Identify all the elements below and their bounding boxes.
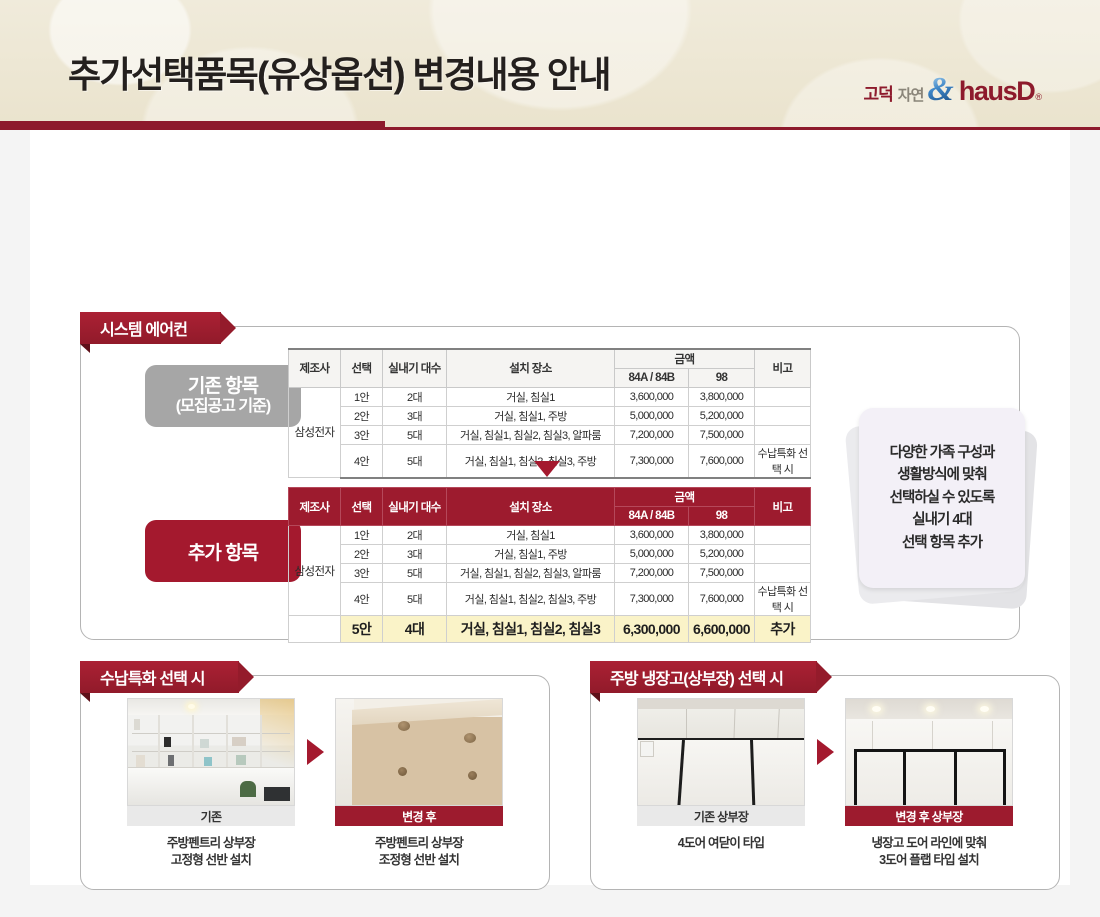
transition-down-arrow-icon: [534, 461, 560, 477]
table-row: 2안3대거실, 침실1, 주방5,000,0005,200,000: [289, 406, 811, 425]
section-ribbon-aircon: 시스템 에어컨: [80, 312, 221, 344]
fridge-panel: 기존 상부장 4도어 여닫이 타입: [590, 675, 1060, 890]
cell-units: 4대: [383, 616, 447, 643]
table-row: 삼성전자1안2대거실, 침실13,600,0003,800,000: [289, 387, 811, 406]
table-row: 4안5대거실, 침실1, 침실2, 침실3, 주방7,300,0007,600,…: [289, 583, 811, 616]
fridge-change-arrow-icon: [805, 698, 845, 806]
cell-remark: [755, 425, 811, 444]
storage-before-desc-line1: 주방펜트리 상부장: [127, 835, 295, 852]
th-units: 실내기 대수: [383, 349, 447, 387]
info-note: 다양한 가족 구성과 생활방식에 맞춰 선택하실 수 있도록 실내기 4대 선택…: [852, 408, 1032, 608]
section-ribbon-fridge: 주방 냉장고(상부장) 선택 시: [590, 661, 817, 693]
cell-choice: 4안: [341, 583, 383, 616]
cell-units: 5대: [383, 583, 447, 616]
cell-place: 거실, 침실1, 침실2, 침실3, 알파룸: [447, 425, 615, 444]
storage-panel: 기존 주방펜트리 상부장 고정형 선반 설치: [80, 675, 550, 890]
existing-badge-line2: (모집공고 기준): [176, 398, 270, 416]
logo-jayeon-text: 자연: [898, 84, 924, 105]
page-body: 시스템 에어컨 기존 항목 (모집공고 기준) 추가 항목 제조사 선택 실내기…: [0, 130, 1100, 917]
added-items-badge: 추가 항목: [145, 520, 301, 582]
fridge-comparison: 기존 상부장 4도어 여닫이 타입: [591, 676, 1059, 889]
storage-comparison: 기존 주방펜트리 상부장 고정형 선반 설치: [81, 676, 549, 889]
cell-choice: 2안: [341, 406, 383, 425]
cell-price-84: 3,600,000: [615, 526, 689, 545]
table-row: 5안4대거실, 침실1, 침실2, 침실36,300,0006,600,000추…: [289, 616, 811, 643]
storage-before-column: 기존 주방펜트리 상부장 고정형 선반 설치: [127, 698, 295, 869]
cell-price-84: 5,000,000: [615, 406, 689, 425]
th-choice: 선택: [341, 349, 383, 387]
page-header: 추가선택품목(유상옵션) 변경내용 안내 고덕 자연 & hausD ®: [0, 0, 1100, 130]
th-price-98: 98: [689, 368, 755, 387]
fridge-before-caption-bar: 기존 상부장: [637, 806, 805, 826]
cell-place: 거실, 침실1, 침실2, 침실3, 주방: [447, 444, 615, 478]
existing-items-badge: 기존 항목 (모집공고 기준): [145, 365, 301, 427]
cell-maker-blank: [289, 616, 341, 643]
added-options-table: 제조사 선택 실내기 대수 설치 장소 금액 비고 84A / 84B 98 삼…: [288, 487, 811, 643]
th-place: 설치 장소: [447, 349, 615, 387]
cell-units: 2대: [383, 526, 447, 545]
cell-place: 거실, 침실1: [447, 526, 615, 545]
storage-before-description: 주방펜트리 상부장 고정형 선반 설치: [127, 835, 295, 869]
table-row: 2안3대거실, 침실1, 주방5,000,0005,200,000: [289, 545, 811, 564]
storage-after-description: 주방펜트리 상부장 조정형 선반 설치: [335, 835, 503, 869]
th-amount: 금액: [615, 488, 755, 507]
logo-brand-text: hausD: [959, 76, 1035, 107]
cell-price-98: 3,800,000: [689, 387, 755, 406]
cell-choice: 5안: [341, 616, 383, 643]
cell-place: 거실, 침실1, 주방: [447, 406, 615, 425]
cell-remark: [755, 387, 811, 406]
upper-cabinet-after-photo: [845, 698, 1013, 806]
cell-place: 거실, 침실1, 주방: [447, 545, 615, 564]
storage-before-desc-line2: 고정형 선반 설치: [127, 852, 295, 869]
storage-after-column: 변경 후 주방펜트리 상부장 조정형 선반 설치: [335, 698, 503, 869]
cell-remark: [755, 564, 811, 583]
cell-remark: 수납특화 선택 시: [755, 444, 811, 478]
logo-ampersand-icon: &: [927, 76, 953, 103]
cell-price-98: 7,600,000: [689, 583, 755, 616]
cell-maker: 삼성전자: [289, 387, 341, 478]
header-accent-bar: [0, 121, 385, 130]
pantry-after-photo: [335, 698, 503, 806]
note-line-5: 선택 항목 추가: [902, 532, 982, 554]
cell-place: 거실, 침실1: [447, 387, 615, 406]
cell-price-98: 5,200,000: [689, 545, 755, 564]
cell-maker: 삼성전자: [289, 526, 341, 616]
fridge-after-desc-line2: 3도어 플랩 타입 설치: [845, 852, 1013, 869]
fridge-after-column: 변경 후 상부장 냉장고 도어 라인에 맞춰 3도어 플랩 타입 설치: [845, 698, 1013, 869]
cell-price-84: 7,200,000: [615, 564, 689, 583]
cell-units: 3대: [383, 545, 447, 564]
existing-badge-line1: 기존 항목: [188, 376, 258, 397]
note-line-4: 실내기 4대: [912, 509, 971, 531]
fridge-after-desc-line1: 냉장고 도어 라인에 맞춰: [845, 835, 1013, 852]
pantry-before-photo: [127, 698, 295, 806]
th-price-84: 84A / 84B: [615, 368, 689, 387]
table-row: 3안5대거실, 침실1, 침실2, 침실3, 알파룸7,200,0007,500…: [289, 425, 811, 444]
cell-choice: 2안: [341, 545, 383, 564]
logo-registered-icon: ®: [1035, 92, 1042, 102]
upper-cabinet-before-photo: [637, 698, 805, 806]
storage-after-desc-line1: 주방펜트리 상부장: [335, 835, 503, 852]
th-place: 설치 장소: [447, 488, 615, 526]
cell-choice: 1안: [341, 526, 383, 545]
cell-price-84: 5,000,000: [615, 545, 689, 564]
page-title: 추가선택품목(유상옵션) 변경내용 안내: [68, 46, 610, 98]
cell-price-98: 7,500,000: [689, 564, 755, 583]
storage-change-arrow-icon: [295, 698, 335, 806]
th-amount: 금액: [615, 349, 755, 368]
cell-place: 거실, 침실1, 침실2, 침실3, 알파룸: [447, 564, 615, 583]
cell-price-84: 7,300,000: [615, 444, 689, 478]
th-price-98: 98: [689, 507, 755, 526]
fridge-before-description: 4도어 여닫이 타입: [637, 835, 805, 852]
cell-price-84: 6,300,000: [615, 616, 689, 643]
fridge-after-description: 냉장고 도어 라인에 맞춰 3도어 플랩 타입 설치: [845, 835, 1013, 869]
th-units: 실내기 대수: [383, 488, 447, 526]
cell-remark: 수납특화 선택 시: [755, 583, 811, 616]
cell-remark: [755, 545, 811, 564]
note-line-2: 생활방식에 맞춰: [897, 464, 986, 486]
th-remark: 비고: [755, 349, 811, 387]
cell-price-98: 7,500,000: [689, 425, 755, 444]
section-ribbon-storage: 수납특화 선택 시: [80, 661, 239, 693]
cell-choice: 3안: [341, 564, 383, 583]
cell-units: 5대: [383, 564, 447, 583]
existing-options-table: 제조사 선택 실내기 대수 설치 장소 금액 비고 84A / 84B 98 삼…: [288, 348, 811, 479]
cell-price-98: 3,800,000: [689, 526, 755, 545]
logo-godeok-text: 고덕: [863, 80, 892, 105]
cell-remark: [755, 526, 811, 545]
cell-remark: [755, 406, 811, 425]
note-line-3: 선택하실 수 있도록: [890, 487, 995, 509]
th-maker: 제조사: [289, 488, 341, 526]
cell-choice: 3안: [341, 425, 383, 444]
cell-units: 3대: [383, 406, 447, 425]
cell-place: 거실, 침실1, 침실2, 침실3: [447, 616, 615, 643]
cell-price-98: 7,600,000: [689, 444, 755, 478]
note-card: 다양한 가족 구성과 생활방식에 맞춰 선택하실 수 있도록 실내기 4대 선택…: [859, 408, 1025, 588]
fridge-after-caption-bar: 변경 후 상부장: [845, 806, 1013, 826]
cell-units: 2대: [383, 387, 447, 406]
cell-price-84: 7,200,000: [615, 425, 689, 444]
cell-price-98: 6,600,000: [689, 616, 755, 643]
th-choice: 선택: [341, 488, 383, 526]
th-price-84: 84A / 84B: [615, 507, 689, 526]
storage-after-desc-line2: 조정형 선반 설치: [335, 852, 503, 869]
cell-price-84: 3,600,000: [615, 387, 689, 406]
cell-place: 거실, 침실1, 침실2, 침실3, 주방: [447, 583, 615, 616]
cell-price-98: 5,200,000: [689, 406, 755, 425]
table-row: 3안5대거실, 침실1, 침실2, 침실3, 알파룸7,200,0007,500…: [289, 564, 811, 583]
cell-choice: 1안: [341, 387, 383, 406]
th-remark: 비고: [755, 488, 811, 526]
cell-units: 5대: [383, 444, 447, 478]
brand-logo: 고덕 자연 & hausD ®: [863, 76, 1042, 107]
fridge-before-column: 기존 상부장 4도어 여닫이 타입: [637, 698, 805, 852]
note-line-1: 다양한 가족 구성과: [890, 442, 995, 464]
th-maker: 제조사: [289, 349, 341, 387]
storage-before-caption-bar: 기존: [127, 806, 295, 826]
table-row: 삼성전자1안2대거실, 침실13,600,0003,800,000: [289, 526, 811, 545]
added-table-body: 삼성전자1안2대거실, 침실13,600,0003,800,0002안3대거실,…: [289, 526, 811, 643]
fridge-before-desc-line1: 4도어 여닫이 타입: [637, 835, 805, 852]
storage-after-caption-bar: 변경 후: [335, 806, 503, 826]
cell-remark: 추가: [755, 616, 811, 643]
cell-price-84: 7,300,000: [615, 583, 689, 616]
cell-units: 5대: [383, 425, 447, 444]
cell-choice: 4안: [341, 444, 383, 478]
content-canvas: 시스템 에어컨 기존 항목 (모집공고 기준) 추가 항목 제조사 선택 실내기…: [30, 130, 1070, 885]
